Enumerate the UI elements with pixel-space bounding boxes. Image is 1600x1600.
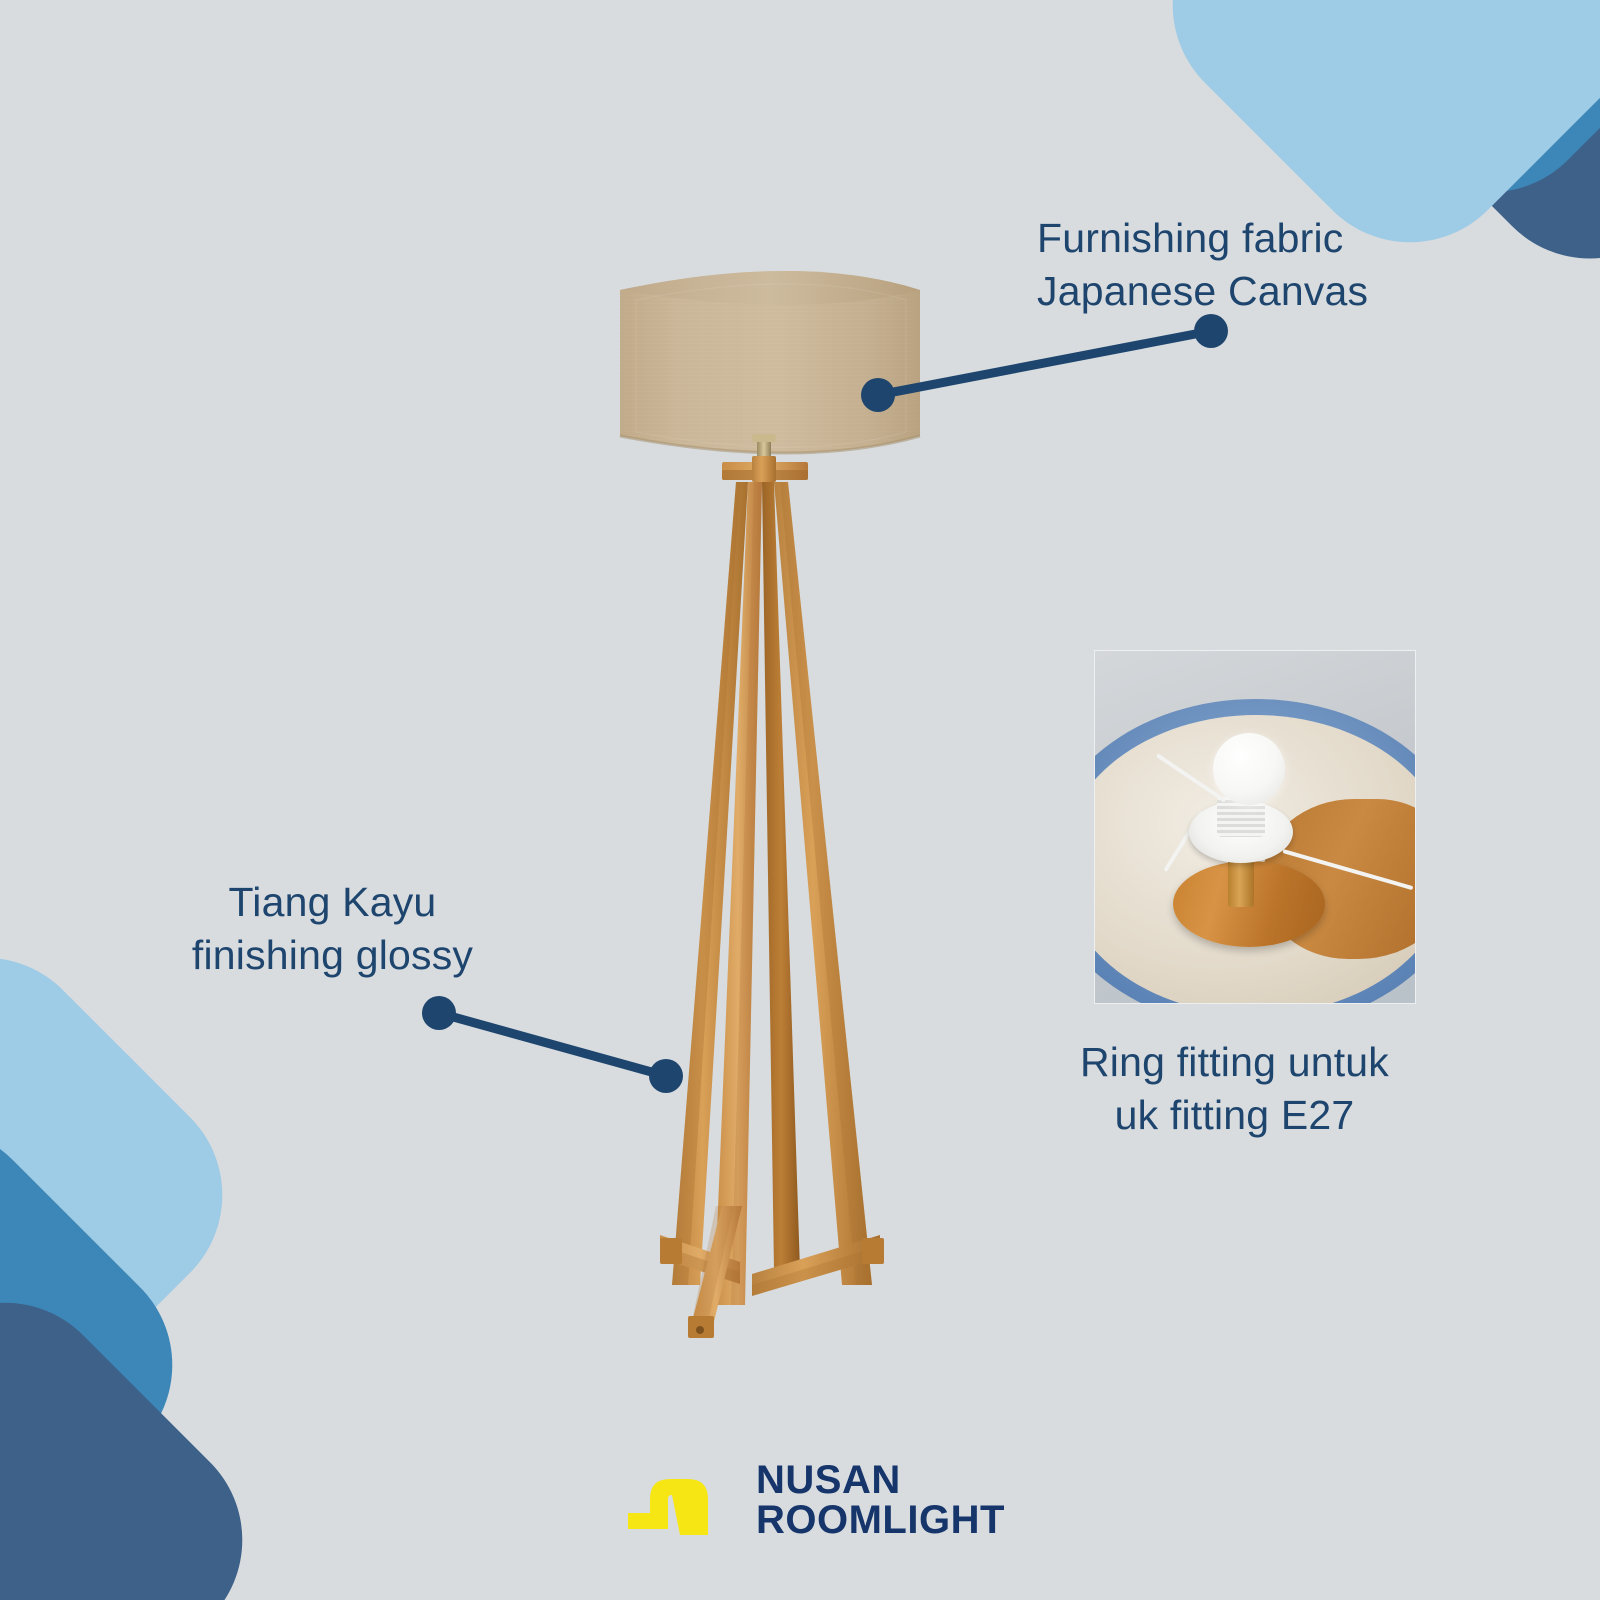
callout-label-ring-fitting: Ring fitting untuk uk fitting E27: [1052, 1036, 1417, 1143]
connector-dot-kayu-start: [422, 996, 456, 1030]
connector-fabric: [861, 314, 1228, 412]
connector-dot-fabric-end: [1194, 314, 1228, 348]
brand-logo: NUSAN ROOMLIGHT: [622, 1455, 1005, 1547]
nusan-lamp-mark-icon: [622, 1455, 732, 1547]
connector-dot-fabric-start: [861, 378, 895, 412]
connector-dot-kayu-end: [649, 1059, 683, 1093]
callout-label-fabric: Furnishing fabric Japanese Canvas: [1037, 212, 1368, 319]
callout-label-tiang-kayu: Tiang Kayu finishing glossy: [160, 876, 505, 983]
connector-kayu: [422, 996, 683, 1093]
logo-line-1: NUSAN: [756, 1461, 1005, 1501]
logo-wordmark: NUSAN ROOMLIGHT: [756, 1461, 1005, 1540]
infographic-canvas: Furnishing fabric Japanese Canvas Tiang …: [0, 0, 1600, 1600]
logo-line-2: ROOMLIGHT: [756, 1501, 1005, 1541]
